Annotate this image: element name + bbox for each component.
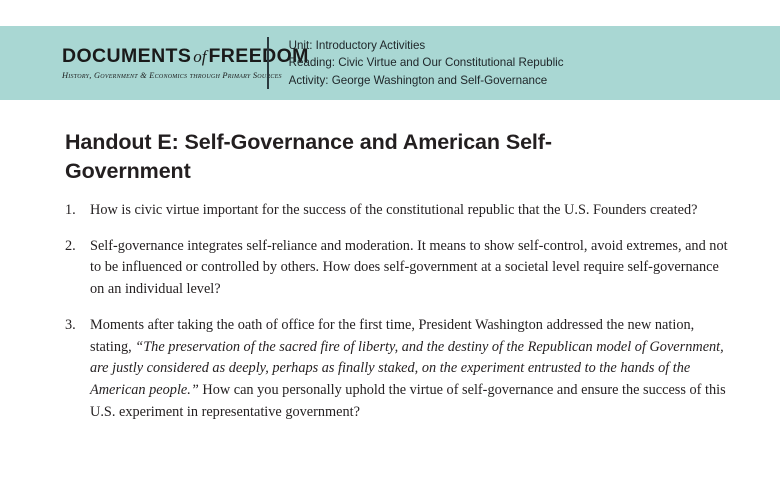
list-item: 3. Moments after taking the oath of offi… bbox=[65, 315, 730, 424]
brand-title: DOCUMENTSofFREEDOM bbox=[62, 46, 262, 67]
list-item-text: Self-governance integrates self-reliance… bbox=[90, 236, 730, 301]
header-band: DOCUMENTSofFREEDOM History, Government &… bbox=[0, 26, 780, 100]
meta-unit: Unit: Introductory Activities bbox=[289, 37, 564, 55]
header-meta: Unit: Introductory Activities Reading: C… bbox=[289, 37, 564, 90]
page-title: Handout E: Self-Governance and American … bbox=[65, 128, 625, 185]
meta-reading: Reading: Civic Virtue and Our Constituti… bbox=[289, 54, 564, 72]
header-divider bbox=[267, 37, 269, 89]
questions-list: 1. How is civic virtue important for the… bbox=[65, 200, 730, 437]
list-item-number: 2. bbox=[65, 236, 90, 258]
list-item-text-before: Self-governance integrates self-reliance… bbox=[90, 238, 728, 297]
list-item-text-before: How is civic virtue important for the su… bbox=[90, 202, 697, 218]
list-item: 2. Self-governance integrates self-relia… bbox=[65, 236, 730, 301]
list-item-text: How is civic virtue important for the su… bbox=[90, 200, 730, 222]
brand-logo: DOCUMENTSofFREEDOM History, Government &… bbox=[0, 46, 262, 80]
brand-tagline: History, Government & Economics through … bbox=[62, 71, 262, 80]
brand-word-documents: DOCUMENTS bbox=[62, 45, 191, 67]
meta-activity: Activity: George Washington and Self-Gov… bbox=[289, 72, 564, 90]
list-item-number: 3. bbox=[65, 315, 90, 337]
list-item-number: 1. bbox=[65, 200, 90, 222]
brand-connector-of: of bbox=[191, 47, 208, 66]
list-item-text: Moments after taking the oath of office … bbox=[90, 315, 730, 424]
list-item: 1. How is civic virtue important for the… bbox=[65, 200, 730, 222]
